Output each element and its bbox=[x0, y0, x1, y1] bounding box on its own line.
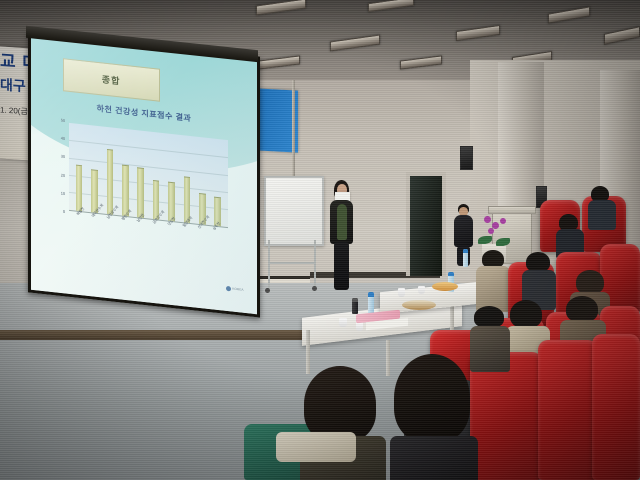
stage-edge bbox=[0, 330, 320, 340]
chart-y-axis: 01020304050 bbox=[49, 118, 67, 212]
slide-title-text: 종합 bbox=[102, 73, 121, 88]
presenter-legs bbox=[334, 242, 349, 290]
doorway[interactable] bbox=[410, 176, 442, 276]
whiteboard-crossbar bbox=[268, 262, 316, 264]
orchid-flower-icon bbox=[500, 218, 506, 224]
orchid-flower-icon bbox=[484, 216, 491, 223]
fruit-plate bbox=[432, 282, 458, 291]
chart-y-tick: 30 bbox=[61, 154, 65, 159]
paper-cup[interactable] bbox=[356, 322, 363, 331]
whiteboard-wheel bbox=[265, 288, 270, 293]
audience-hair bbox=[474, 306, 504, 328]
whiteboard bbox=[264, 176, 324, 246]
chart-bar bbox=[168, 181, 175, 221]
chart-bar bbox=[76, 164, 83, 211]
whiteboard-leg bbox=[268, 240, 270, 290]
chart-bar bbox=[137, 168, 144, 218]
audience-torso bbox=[588, 200, 616, 230]
audience-member-foreground bbox=[390, 354, 478, 480]
slide-logo: KOREA bbox=[226, 286, 243, 293]
chart-y-tick: 40 bbox=[61, 135, 65, 140]
slide-logo-text: KOREA bbox=[232, 287, 243, 292]
presenter-inner-top bbox=[337, 204, 347, 240]
seat[interactable] bbox=[538, 340, 598, 480]
whiteboard-leg bbox=[314, 240, 316, 288]
presenter bbox=[326, 180, 356, 292]
podium-top bbox=[488, 206, 536, 214]
audience-hair bbox=[526, 252, 550, 272]
chart-y-tick: 20 bbox=[61, 172, 65, 177]
projection-screen: 종합 하천 건강성 지표점수 결과 01020304050 하랑천대곡천수계남천… bbox=[28, 31, 260, 317]
chart-bar bbox=[122, 164, 129, 216]
chart-y-tick: 10 bbox=[61, 190, 65, 195]
audience-hair bbox=[394, 354, 470, 442]
lecture-hall-photo: 교 대 대구 · 1. 20(금) 1 발표회 표회 국대학교 한경대학교 종합… bbox=[0, 0, 640, 480]
audience-member bbox=[476, 250, 510, 310]
audience-hair bbox=[304, 366, 376, 442]
audience-member bbox=[556, 214, 584, 254]
audience-hair bbox=[510, 300, 542, 328]
whiteboard-wheel bbox=[312, 286, 317, 291]
chart-y-tick: 0 bbox=[63, 209, 65, 214]
water-bottle[interactable] bbox=[368, 292, 374, 314]
paper-cup[interactable] bbox=[339, 318, 347, 327]
slide-background: 종합 하천 건강성 지표점수 결과 01020304050 하랑천대곡천수계남천… bbox=[31, 35, 257, 315]
wall-speaker-icon bbox=[460, 146, 473, 170]
water-bottle[interactable] bbox=[463, 249, 468, 267]
orchid-flower-icon bbox=[488, 228, 494, 234]
audience-hair bbox=[576, 270, 604, 294]
snack-plate bbox=[402, 300, 436, 310]
thermos[interactable] bbox=[352, 298, 358, 314]
audience-torso bbox=[390, 436, 478, 480]
audience-member bbox=[470, 306, 510, 368]
attendee-torso bbox=[454, 215, 473, 247]
paper-cup[interactable] bbox=[398, 288, 405, 297]
audience-torso bbox=[470, 326, 510, 372]
chart-bar bbox=[107, 149, 114, 215]
seat-blanket bbox=[276, 432, 356, 462]
seat[interactable] bbox=[592, 334, 640, 480]
paper-cup[interactable] bbox=[418, 286, 425, 294]
audience-member bbox=[588, 186, 616, 226]
audience-hair bbox=[566, 296, 598, 322]
chart-x-axis-labels: 하랑천대곡천수계남천상수계평천수계남전천금호강수계안강천밀양대곡산내천수계성주천 bbox=[69, 211, 227, 284]
chart-y-tick: 50 bbox=[61, 117, 65, 122]
audience-member-foreground bbox=[300, 366, 386, 480]
